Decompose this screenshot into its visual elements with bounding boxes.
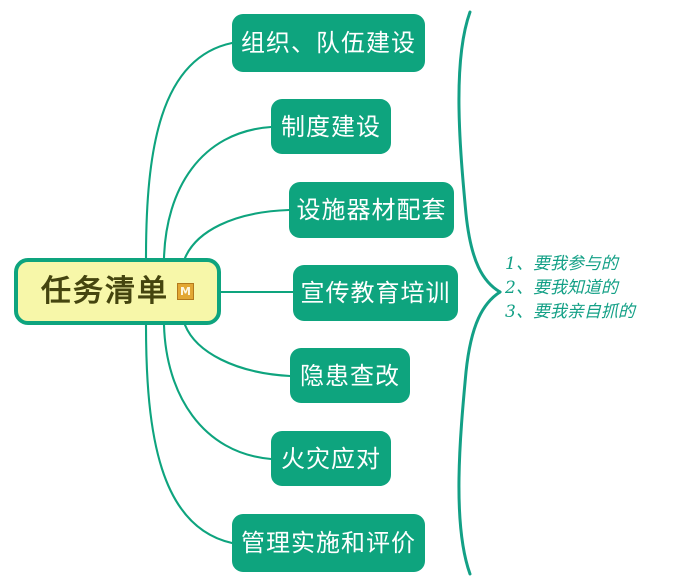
annotation-item: 3、要我亲自抓的 <box>505 300 685 324</box>
connector-line-6 <box>164 325 271 459</box>
connector-line-5 <box>185 325 290 376</box>
connector-line-3 <box>185 210 289 258</box>
root-node-label: 任务清单 <box>41 277 169 307</box>
branch-node-label: 制度建设 <box>281 115 381 139</box>
annotation-list: 1、要我参与的 2、要我知道的 3、要我亲自抓的 <box>505 252 685 324</box>
branch-node-label: 设施器材配套 <box>297 198 447 222</box>
branch-node-label: 组织、队伍建设 <box>241 31 416 55</box>
branch-node-3[interactable]: 设施器材配套 <box>289 182 454 238</box>
branch-node-label: 火灾应对 <box>281 447 381 471</box>
mindmap-canvas: 任务清单 M 组织、队伍建设 制度建设 设施器材配套 宣传教育培训 隐患查改 火… <box>0 0 689 585</box>
branch-node-7[interactable]: 管理实施和评价 <box>232 514 425 572</box>
root-node-badge: M <box>177 283 194 300</box>
branch-node-2[interactable]: 制度建设 <box>271 99 391 154</box>
branch-node-5[interactable]: 隐患查改 <box>290 348 410 403</box>
brace-lower <box>459 292 500 574</box>
connector-line-7 <box>146 325 232 543</box>
connector-line-1 <box>146 43 232 258</box>
branch-node-6[interactable]: 火灾应对 <box>271 431 391 486</box>
annotation-item: 2、要我知道的 <box>505 276 685 300</box>
branch-node-label: 宣传教育培训 <box>301 281 451 305</box>
annotation-item: 1、要我参与的 <box>505 252 685 276</box>
branch-node-label: 隐患查改 <box>300 364 400 388</box>
branch-node-4[interactable]: 宣传教育培训 <box>293 265 458 321</box>
root-node[interactable]: 任务清单 M <box>14 258 221 325</box>
connector-line-2 <box>164 127 271 258</box>
branch-node-1[interactable]: 组织、队伍建设 <box>232 14 425 72</box>
branch-node-label: 管理实施和评价 <box>241 531 416 555</box>
brace-upper <box>459 12 500 292</box>
